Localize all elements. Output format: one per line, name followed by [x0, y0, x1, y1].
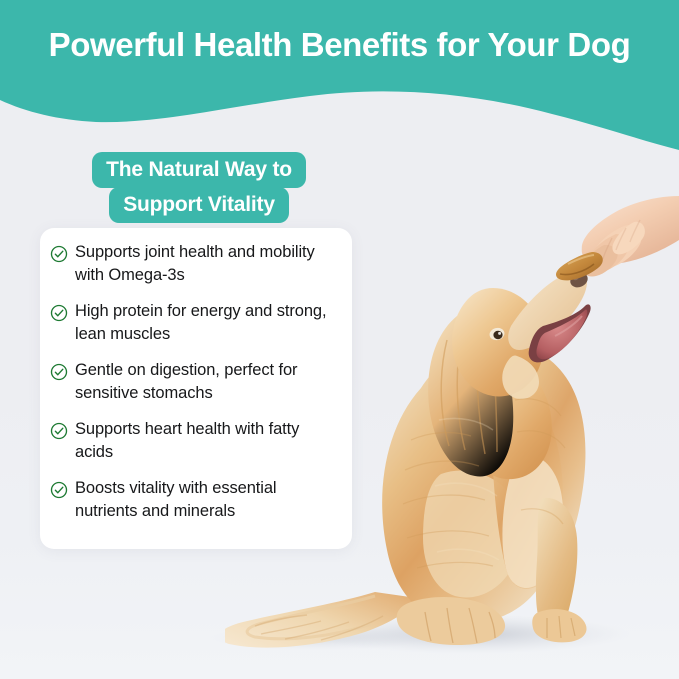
- list-item: High protein for energy and strong, lean…: [50, 300, 336, 346]
- check-circle-icon: [50, 245, 68, 263]
- list-item-label: Boosts vitality with essential nutrients…: [75, 477, 336, 523]
- list-item: Supports joint health and mobility with …: [50, 241, 336, 287]
- list-item-label: High protein for energy and strong, lean…: [75, 300, 336, 346]
- list-item-label: Supports joint health and mobility with …: [75, 241, 336, 287]
- hand-with-treat: [548, 196, 679, 296]
- list-item: Supports heart health with fatty acids: [50, 418, 336, 464]
- benefits-card: Supports joint health and mobility with …: [40, 228, 352, 549]
- list-item-label: Gentle on digestion, perfect for sensiti…: [75, 359, 336, 405]
- list-item-label: Supports heart health with fatty acids: [75, 418, 336, 464]
- check-circle-icon: [50, 304, 68, 322]
- check-circle-icon: [50, 363, 68, 381]
- list-item: Boosts vitality with essential nutrients…: [50, 477, 336, 523]
- badge-headline: The Natural Way to Support Vitality: [64, 152, 334, 223]
- benefits-list: Supports joint health and mobility with …: [50, 241, 336, 523]
- badge-line-2: Support Vitality: [109, 187, 289, 223]
- list-item: Gentle on digestion, perfect for sensiti…: [50, 359, 336, 405]
- check-circle-icon: [50, 422, 68, 440]
- page-title: Powerful Health Benefits for Your Dog: [0, 24, 679, 66]
- check-circle-icon: [50, 481, 68, 499]
- marketing-graphic: Powerful Health Benefits for Your Dog Th…: [0, 0, 679, 679]
- badge-line-1: The Natural Way to: [92, 152, 306, 188]
